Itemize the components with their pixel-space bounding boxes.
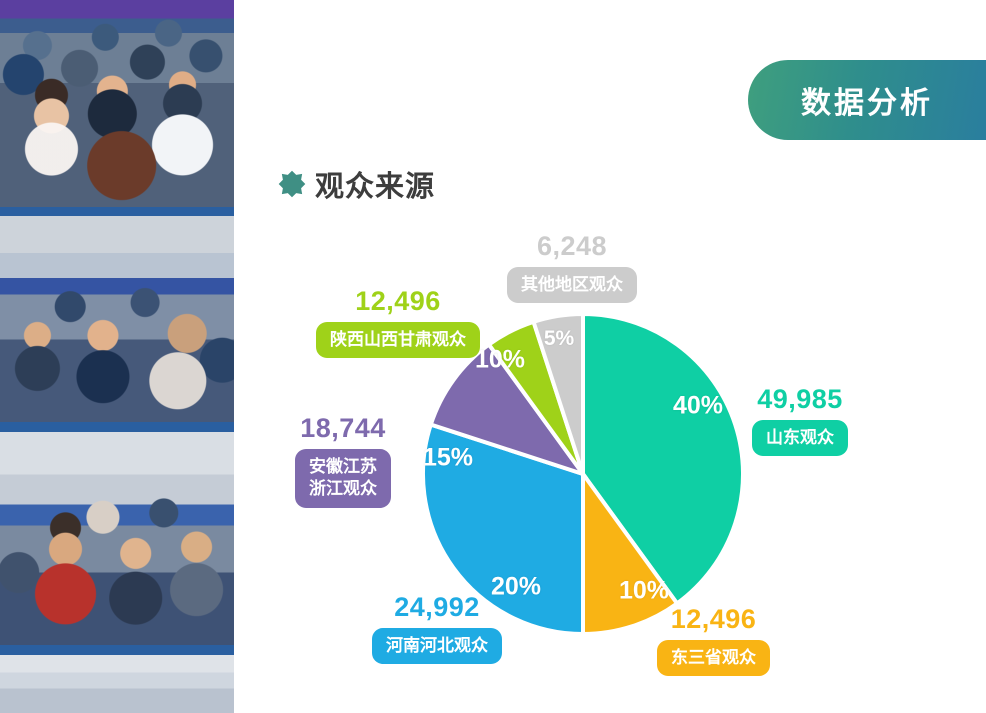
pie-label-shaanxi-shanxi-gansu: 10%	[475, 346, 525, 375]
pie-label-shandong: 40%	[673, 392, 723, 421]
callout-henan-hebei[interactable]: 24,992 河南河北观众	[372, 592, 502, 664]
callout-other-regions[interactable]: 6,248 其他地区观众	[507, 231, 637, 303]
photo-1	[0, 0, 234, 207]
callout-shaanxi-shanxi-gansu[interactable]: 12,496 陕西山西甘肃观众	[316, 286, 480, 358]
callout-dongsansheng-value: 12,496	[671, 604, 757, 635]
photo-divider-2	[0, 422, 234, 432]
callout-shandong-label: 山东观众	[752, 420, 848, 456]
photo-4-image	[0, 655, 234, 713]
callout-dongsansheng-label: 东三省观众	[657, 640, 770, 676]
callout-shandong-value: 49,985	[757, 384, 843, 415]
pie-label-anhui-jiangsu-zhejiang: 15%	[423, 444, 473, 473]
pie-label-other-regions: 5%	[544, 327, 574, 351]
callout-dongsansheng[interactable]: 12,496 东三省观众	[657, 604, 770, 676]
callout-shaanxi-shanxi-gansu-value: 12,496	[355, 286, 441, 317]
callout-anhui-jiangsu-zhejiang-value: 18,744	[300, 413, 386, 444]
pie-label-dongsansheng: 10%	[619, 577, 669, 606]
photo-divider-3	[0, 645, 234, 655]
callout-shaanxi-shanxi-gansu-label: 陕西山西甘肃观众	[316, 322, 480, 358]
star-burst-icon	[278, 170, 306, 198]
page-title: 观众来源	[278, 163, 435, 205]
photo-strip	[0, 0, 234, 713]
photo-3-image	[0, 432, 234, 645]
page-title-text: 观众来源	[315, 163, 435, 205]
callout-anhui-jiangsu-zhejiang[interactable]: 18,744 安徽江苏 浙江观众	[295, 413, 391, 508]
photo-4	[0, 655, 234, 713]
callout-anhui-jiangsu-zhejiang-label: 安徽江苏 浙江观众	[295, 449, 391, 508]
photo-2-image	[0, 216, 234, 422]
section-header-label: 数据分析	[801, 78, 933, 122]
callout-other-regions-label: 其他地区观众	[507, 267, 637, 303]
callout-other-regions-value: 6,248	[537, 231, 607, 262]
photo-1-image	[0, 0, 234, 207]
slide-canvas: 数据分析 观众来源 40% 10%	[0, 0, 986, 713]
callout-henan-hebei-value: 24,992	[394, 592, 480, 623]
section-header-badge: 数据分析	[748, 60, 986, 140]
callout-shandong[interactable]: 49,985 山东观众	[752, 384, 848, 456]
photo-divider-1	[0, 207, 234, 216]
photo-2	[0, 216, 234, 422]
photo-3	[0, 432, 234, 645]
callout-henan-hebei-label: 河南河北观众	[372, 628, 502, 664]
